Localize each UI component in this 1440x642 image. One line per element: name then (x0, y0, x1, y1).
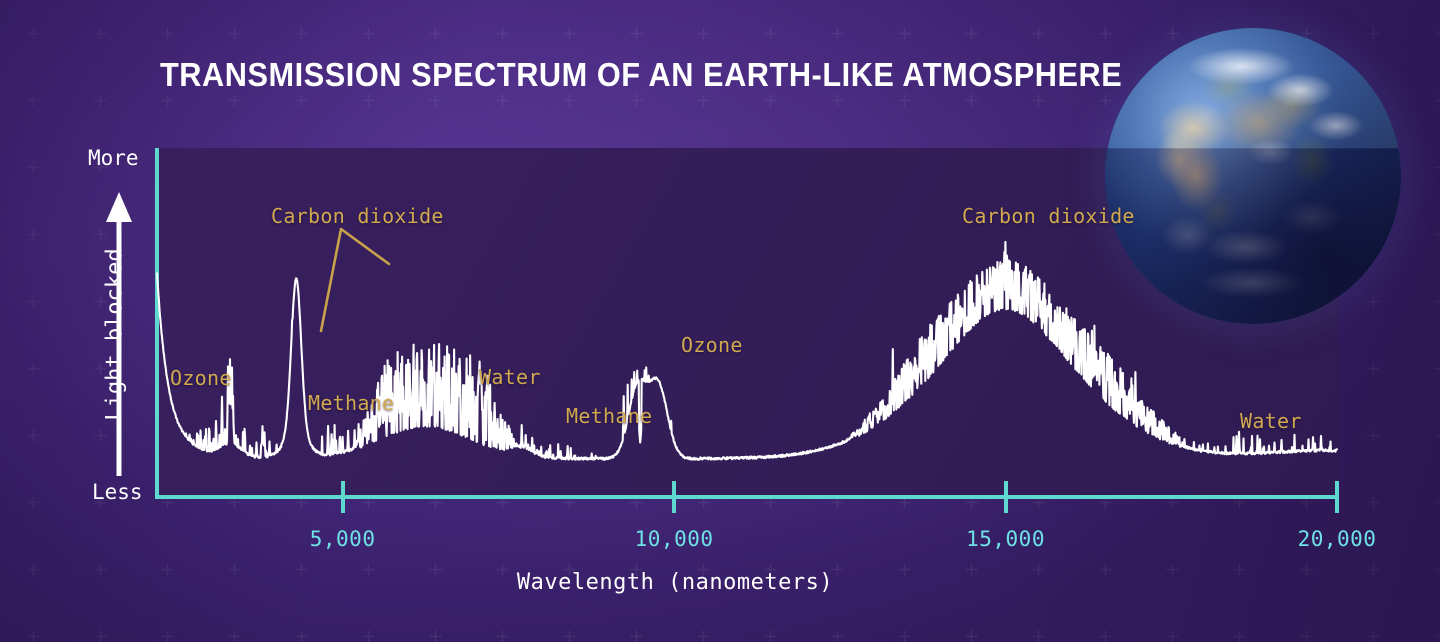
gas-label-carbon-dioxide: Carbon dioxide (962, 204, 1135, 228)
gas-label-ozone: Ozone (681, 333, 743, 357)
gas-label-ozone: Ozone (170, 366, 232, 390)
gas-label-water: Water (1240, 409, 1302, 433)
gas-label-methane: Methane (566, 404, 652, 428)
spectrum-curve (0, 0, 1440, 642)
gas-label-carbon-dioxide: Carbon dioxide (271, 204, 444, 228)
infographic-root: TRANSMISSION SPECTRUM OF AN EARTH-LIKE A… (0, 0, 1440, 642)
gas-label-methane: Methane (308, 391, 394, 415)
gas-label-water: Water (479, 365, 541, 389)
spectrum-path (157, 242, 1337, 460)
